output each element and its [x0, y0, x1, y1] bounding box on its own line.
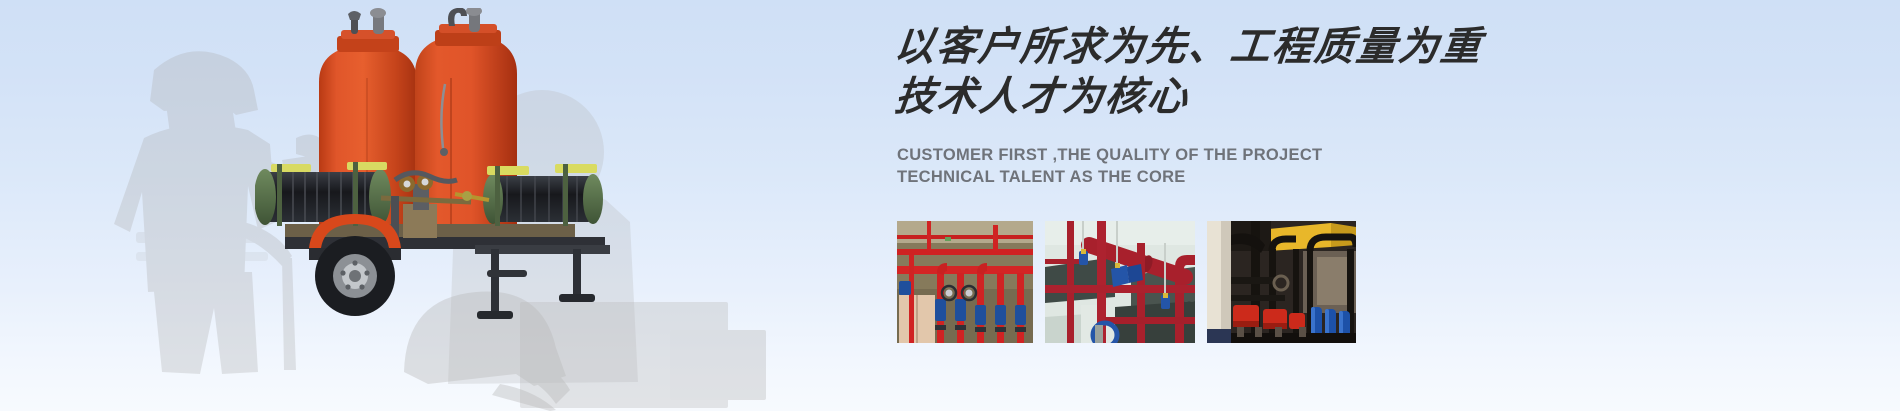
- thumb-boiler-room-equipment[interactable]: [1207, 221, 1356, 343]
- page-subtitle: CUSTOMER FIRST ,THE QUALITY OF THE PROJE…: [897, 144, 1537, 188]
- subtitle-line-2: TECHNICAL TALENT AS THE CORE: [897, 166, 1537, 188]
- project-thumbnail-strip: [897, 221, 1537, 343]
- headline-line-2: 技术人才为核心: [886, 72, 1531, 122]
- thumb-red-sprinkler-manifold[interactable]: [897, 221, 1033, 343]
- subtitle-line-1: CUSTOMER FIRST ,THE QUALITY OF THE PROJE…: [897, 144, 1537, 166]
- fire-fighting-trailer-photo: [255, 8, 645, 338]
- page-title: 以客户所求为先、工程质量为重 技术人才为核心: [886, 22, 1537, 122]
- thumb-overhead-red-piping[interactable]: [1045, 221, 1195, 343]
- banner-content: 以客户所求为先、工程质量为重 技术人才为核心 CUSTOMER FIRST ,T…: [897, 0, 1537, 411]
- headline-line-1: 以客户所求为先、工程质量为重: [892, 22, 1537, 72]
- hero-banner: 以客户所求为先、工程质量为重 技术人才为核心 CUSTOMER FIRST ,T…: [0, 0, 1900, 411]
